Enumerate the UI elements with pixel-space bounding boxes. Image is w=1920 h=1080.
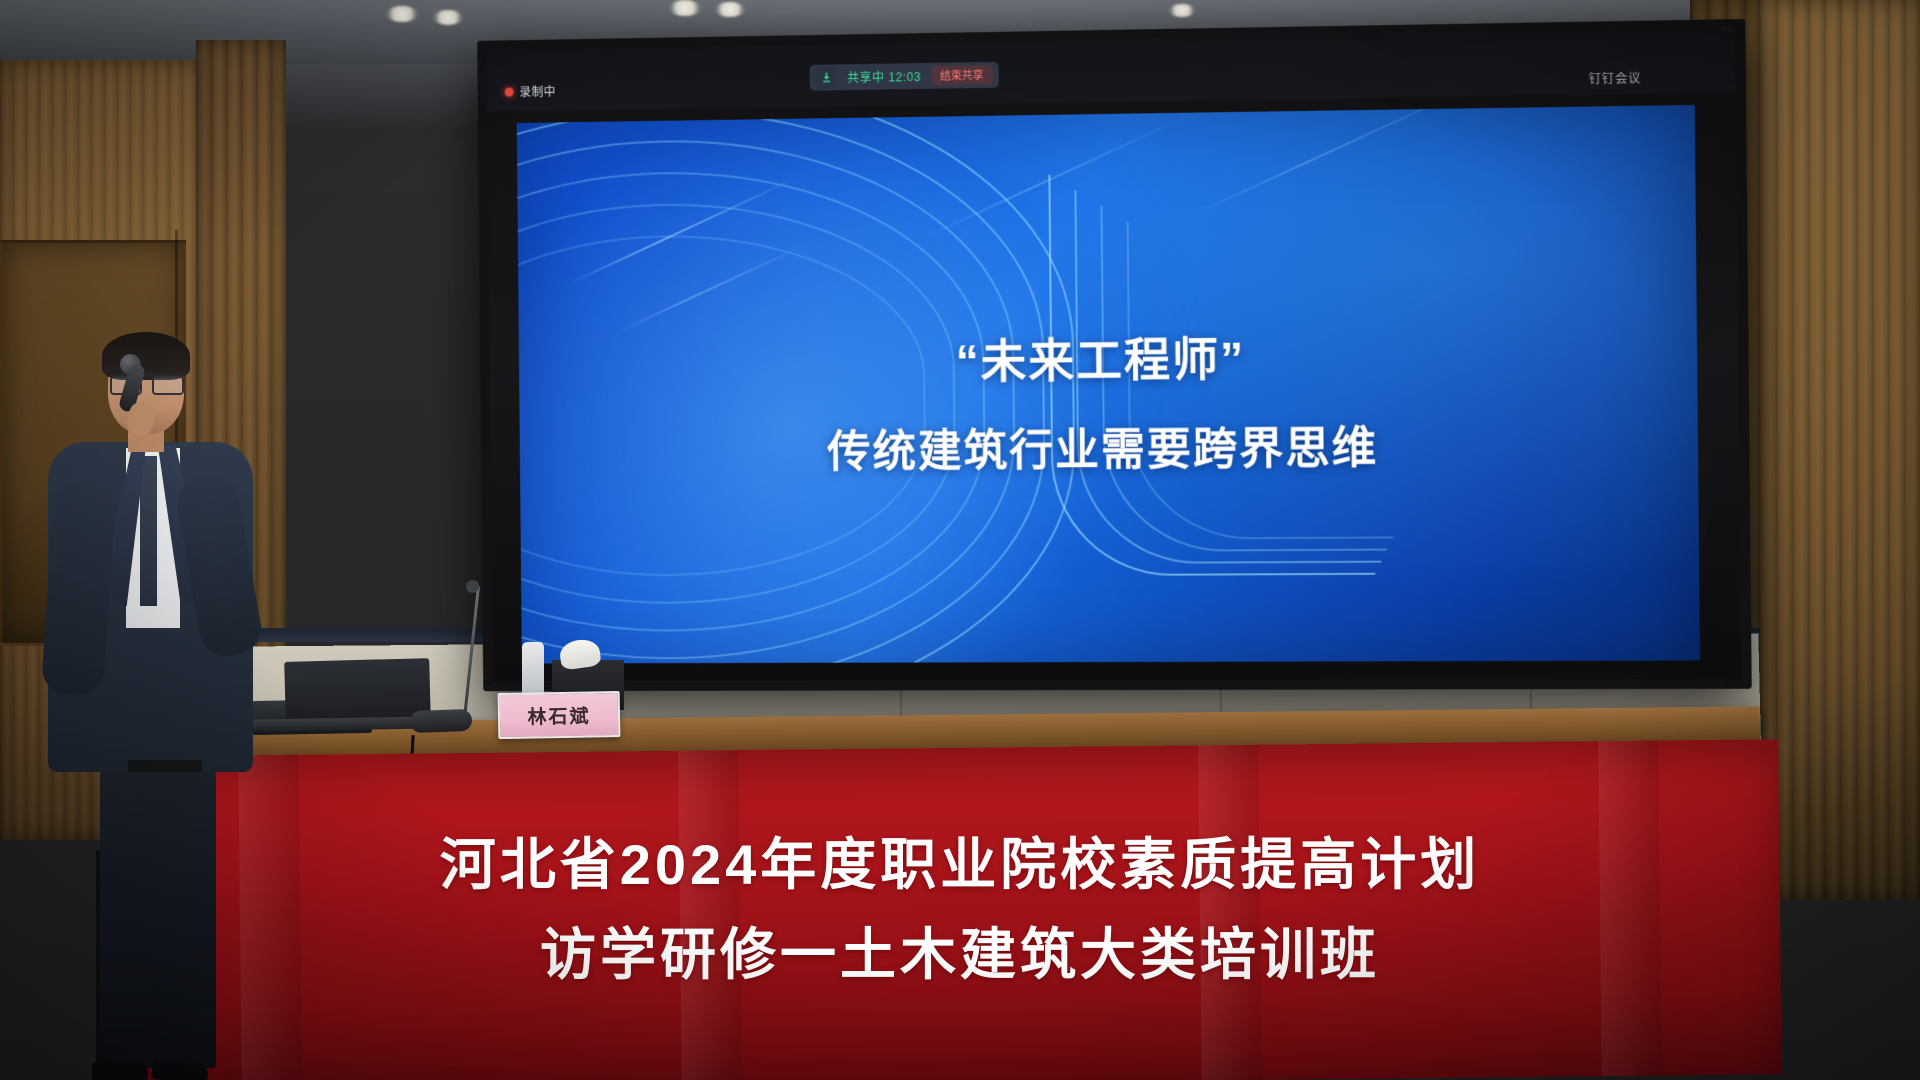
shared-slide: “未来工程师” 传统建筑行业需要跨界思维 [517, 105, 1700, 664]
presenter-leg-split [96, 850, 100, 1070]
recording-dot-icon [505, 88, 514, 97]
presenter-tie [140, 456, 157, 606]
glasses-lens-right [152, 376, 184, 395]
banner-line-2: 访学研修一土木建筑大类培训班 [540, 910, 1380, 991]
presenter-hair [102, 332, 190, 380]
ceiling-light [432, 10, 464, 25]
recording-label: 录制中 [519, 83, 556, 100]
name-plate-text: 林石斌 [527, 701, 590, 729]
glasses-icon [110, 374, 182, 391]
presenter [40, 330, 300, 1030]
wall-wood-panel-right [1760, 0, 1920, 900]
ceiling-light [1168, 4, 1196, 17]
end-share-button[interactable]: 结束共享 [931, 65, 993, 86]
ceiling-light [668, 0, 702, 16]
ceiling-light [714, 2, 746, 17]
download-pin-icon[interactable] [816, 66, 838, 88]
name-plate: 林石斌 [498, 691, 621, 739]
slide-subtitle: 传统建筑行业需要跨界思维 [827, 412, 1379, 480]
slide-title: “未来工程师” [955, 323, 1245, 392]
presenter-legs [100, 768, 216, 1068]
ceiling-light [385, 6, 419, 22]
presentation-screenshot: 录制中 共享中 12:03 结束共享 钉钉会议 [0, 0, 1920, 1080]
presenter-belt [128, 760, 202, 772]
share-status-text: 共享中 12:03 [847, 68, 921, 86]
presenter-shoe [92, 1062, 148, 1080]
microphone-capsule-icon [466, 580, 479, 593]
banner-fold [1598, 741, 1662, 1077]
meeting-app-name: 钉钉会议 [1589, 69, 1642, 87]
recording-indicator: 录制中 [505, 83, 556, 101]
presentation-display: 录制中 共享中 12:03 结束共享 钉钉会议 [477, 19, 1752, 691]
screen-share-bar[interactable]: 共享中 12:03 结束共享 [810, 62, 999, 91]
laptop [284, 658, 431, 724]
banner-line-1: 河北省2024年度职业院校素质提高计划 [440, 820, 1481, 901]
